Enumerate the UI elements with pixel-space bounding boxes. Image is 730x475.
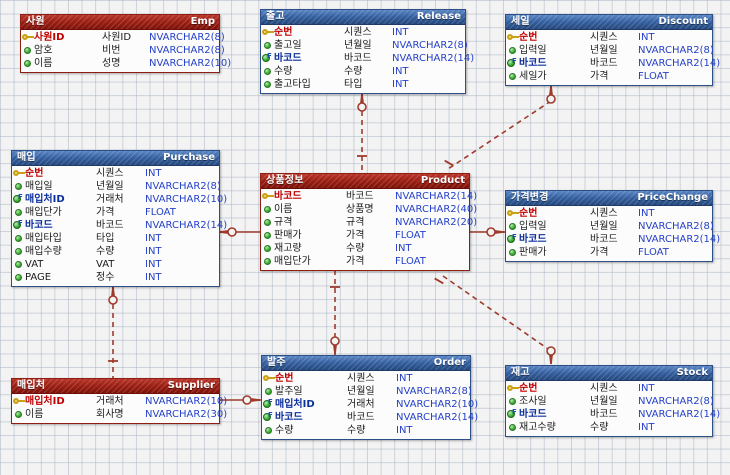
foreign-key-icon [13,221,24,230]
column-row[interactable]: 암호비번NVARCHAR2(8) [21,44,219,57]
column-domain: 비번 [102,44,149,57]
foreign-key-icon [263,413,274,422]
entity-table-release[interactable]: 출고Release순번시퀀스INT출고일년월일NVARCHAR2(8)바코드바코… [260,9,466,94]
column-type: NVARCHAR2(8) [638,220,714,233]
column-bullet-icon [15,183,22,190]
column-type: NVARCHAR2(8) [638,44,714,57]
rel-product-stock-crowfoot [547,347,555,364]
column-type: INT [638,207,655,220]
entity-name-en: Stock [677,366,708,380]
column-domain: 시퀀스 [347,372,396,385]
entity-columns-emp: 사원ID사원IDNVARCHAR2(8)암호비번NVARCHAR2(8)이름성명… [21,30,219,72]
column-domain: 가격 [590,70,638,83]
column-row[interactable]: 바코드바코드NVARCHAR2(14) [506,57,712,70]
column-type: INT [145,167,162,180]
column-domain: 바코드 [344,52,392,65]
column-type: NVARCHAR2(14) [392,52,474,65]
column-domain: 년월일 [344,39,392,52]
column-domain: 바코드 [96,219,145,232]
column-type: FLOAT [638,246,669,259]
entity-name-kr: 상품정보 [266,174,304,188]
column-domain: 수량 [344,65,392,78]
foreign-key-icon [12,219,25,232]
column-row[interactable]: 이름성명NVARCHAR2(10) [21,57,219,70]
column-row[interactable]: 출고일년월일NVARCHAR2(8) [261,39,465,52]
column-bullet-icon [264,219,271,226]
column-domain: 타입 [344,78,392,91]
column-row[interactable]: 바코드바코드NVARCHAR2(14) [261,52,465,65]
column-type: NVARCHAR2(20) [395,216,477,229]
column-name: 발주일 [275,385,347,398]
column-row[interactable]: 조사일년월일NVARCHAR2(8) [506,395,712,408]
column-row[interactable]: 이름회사명NVARCHAR2(30) [12,408,219,421]
column-domain: 년월일 [590,44,638,57]
entity-name-en: Supplier [168,379,215,393]
column-name: 바코드 [275,411,347,424]
column-type: NVARCHAR2(8) [145,180,221,193]
rel-purchase-supplier-crowfoot [109,287,117,304]
column-domain: 년월일 [96,180,145,193]
foreign-key-icon [12,193,25,206]
column-bullet-icon [506,44,519,57]
column-domain: 수량 [347,424,396,437]
column-name: 순번 [519,31,590,44]
column-bullet-icon [264,206,271,213]
column-bullet-icon [261,203,274,216]
column-name: 암호 [34,44,102,57]
foreign-key-icon [263,400,274,409]
foreign-key-icon [506,233,519,246]
column-type: NVARCHAR2(14) [638,233,720,246]
column-name: VAT [25,258,96,271]
foreign-key-icon [262,398,275,411]
column-name: 매입처ID [25,193,96,206]
foreign-key-icon [506,57,519,70]
column-type: INT [638,421,655,434]
column-domain: 성명 [102,57,149,70]
column-domain: VAT [96,258,145,271]
column-domain: 시퀀스 [590,382,638,395]
column-domain: 시퀀스 [590,207,638,220]
column-bullet-icon [12,232,25,245]
column-row[interactable]: 순번시퀀스INT [262,372,470,385]
primary-key-icon [21,31,34,44]
entity-header-pricechange[interactable]: 가격변경PriceChange [506,191,712,206]
entity-name-en: Order [434,356,466,370]
column-name: 이름 [34,57,102,70]
primary-key-icon [262,28,274,37]
column-row[interactable]: 매입수량수량INT [12,245,219,258]
column-row[interactable]: 바코드바코드NVARCHAR2(14) [262,411,470,424]
column-bullet-icon [509,398,516,405]
column-type: NVARCHAR2(8) [149,44,225,57]
column-bullet-icon [15,209,22,216]
column-domain: 거래처 [96,395,145,408]
column-row[interactable]: 사원ID사원IDNVARCHAR2(8) [21,31,219,44]
column-bullet-icon [262,424,275,437]
column-row[interactable]: 매입타입타입INT [12,232,219,245]
column-type: NVARCHAR2(14) [145,219,227,232]
column-domain: 바코드 [590,57,638,70]
column-type: NVARCHAR2(8) [392,39,468,52]
column-bullet-icon [506,220,519,233]
column-bullet-icon [261,78,274,91]
column-type: FLOAT [638,70,669,83]
column-type: INT [395,242,412,255]
column-type: NVARCHAR2(14) [395,190,477,203]
column-bullet-icon [261,39,274,52]
entity-name-en: Product [421,174,465,188]
column-domain: 가격 [346,255,395,268]
column-domain: 수량 [96,245,145,258]
entity-columns-discount: 순번시퀀스INT입력일년월일NVARCHAR2(8)바코드바코드NVARCHAR… [506,30,712,85]
primary-key-icon [506,382,519,395]
entity-name-en: PriceChange [637,191,708,205]
primary-key-icon [506,207,519,220]
rel-discount-product-crowfoot [547,86,555,103]
column-name: 입력일 [519,220,590,233]
column-type: INT [145,271,162,284]
column-domain: 상품명 [346,203,395,216]
column-row[interactable]: 순번시퀀스INT [261,26,465,39]
entity-name-en: Purchase [163,151,215,165]
foreign-key-icon [262,411,275,424]
foreign-key-icon [261,52,274,65]
column-bullet-icon [262,385,275,398]
column-name: 이름 [25,408,96,421]
column-domain: 시퀀스 [96,167,145,180]
column-row[interactable]: 출고타입타입INT [261,78,465,91]
column-bullet-icon [265,427,272,434]
column-type: NVARCHAR2(14) [396,411,478,424]
column-domain: 바코드 [590,408,638,421]
entity-table-product[interactable]: 상품정보Product바코드바코드NVARCHAR2(14)이름상품명NVARC… [260,173,470,271]
column-name: 출고타입 [274,78,344,91]
column-type: INT [638,31,655,44]
column-domain: 타입 [96,232,145,245]
entity-table-stock[interactable]: 재고Stock순번시퀀스INT조사일년월일NVARCHAR2(8)바코드바코드N… [505,365,713,437]
column-row[interactable]: 매입처ID거래처NVARCHAR2(10) [12,395,219,408]
entity-header-stock[interactable]: 재고Stock [506,366,712,381]
column-bullet-icon [506,246,519,259]
entity-columns-product: 바코드바코드NVARCHAR2(14)이름상품명NVARCHAR2(40)규격규… [261,189,469,270]
column-bullet-icon [264,245,271,252]
primary-key-icon [262,372,275,385]
column-name: 조사일 [519,395,590,408]
primary-key-icon [13,169,25,178]
column-name: 재고량 [274,242,346,255]
column-type: INT [145,232,162,245]
column-domain: 거래처 [96,193,145,206]
column-name: 바코드 [274,52,344,65]
column-type: NVARCHAR2(14) [638,57,720,70]
column-row[interactable]: 매입단가가격FLOAT [12,206,219,219]
column-name: 수량 [274,65,344,78]
column-row[interactable]: 판매가가격FLOAT [506,246,712,259]
column-row[interactable]: 매입처ID거래처NVARCHAR2(10) [262,398,470,411]
column-bullet-icon [509,424,516,431]
column-name: 바코드 [519,233,590,246]
column-row[interactable]: 바코드바코드NVARCHAR2(14) [261,190,469,203]
column-row[interactable]: 재고량수량INT [261,242,469,255]
column-name: 매입단가 [274,255,346,268]
entity-table-purchase[interactable]: 매입Purchase순번시퀀스INT매입일년월일NVARCHAR2(8)매입처I… [11,150,220,287]
column-type: NVARCHAR2(8) [149,31,225,44]
foreign-key-icon [13,195,24,204]
column-name: 출고일 [274,39,344,52]
column-bullet-icon [264,42,271,49]
column-name: 매입처ID [275,398,347,411]
column-type: INT [145,245,162,258]
column-bullet-icon [509,47,516,54]
column-row[interactable]: 판매가가격FLOAT [261,229,469,242]
column-bullet-icon [506,70,519,83]
column-domain: 년월일 [347,385,396,398]
primary-key-icon [261,190,274,203]
rel-discount-product-bar [445,161,454,166]
column-row[interactable]: 순번시퀀스INT [506,31,712,44]
column-bullet-icon [12,206,25,219]
column-type: NVARCHAR2(8) [396,385,472,398]
entity-table-order[interactable]: 발주Order순번시퀀스INT발주일년월일NVARCHAR2(8)매입처ID거래… [261,355,471,440]
column-bullet-icon [24,60,31,67]
rel-product-pricechange-crowfoot [487,228,504,236]
column-row[interactable]: 매입일년월일NVARCHAR2(8) [12,180,219,193]
entity-header-order[interactable]: 발주Order [262,356,470,371]
column-type: NVARCHAR2(10) [149,57,231,70]
column-domain: 정수 [96,271,145,284]
rel-discount-product-line [448,101,551,169]
primary-key-icon [22,33,34,42]
primary-key-icon [507,209,519,218]
column-bullet-icon [264,81,271,88]
column-row[interactable]: 순번시퀀스INT [506,382,712,395]
column-name: 순번 [519,207,590,220]
column-bullet-icon [261,216,274,229]
entity-header-emp[interactable]: 사원Emp [21,15,219,30]
column-bullet-icon [12,271,25,284]
entity-table-supplier[interactable]: 매입처Supplier매입처ID거래처NVARCHAR2(10)이름회사명NVA… [11,378,220,424]
primary-key-icon [262,192,274,201]
column-domain: 가격 [96,206,145,219]
column-row[interactable]: 발주일년월일NVARCHAR2(8) [262,385,470,398]
column-domain: 년월일 [590,220,638,233]
column-name: 순번 [274,26,344,39]
column-row[interactable]: 이름상품명NVARCHAR2(40) [261,203,469,216]
entity-name-kr: 매입 [17,151,36,165]
column-row[interactable]: 바코드바코드NVARCHAR2(14) [506,233,712,246]
column-name: 바코드 [519,408,590,421]
column-type: NVARCHAR2(40) [395,203,477,216]
column-domain: 회사명 [96,408,145,421]
entity-table-pricechange[interactable]: 가격변경PriceChange순번시퀀스INT입력일년월일NVARCHAR2(8… [505,190,713,262]
column-name: 순번 [25,167,96,180]
column-type: INT [145,258,162,271]
column-name: 세일가 [519,70,590,83]
column-type: INT [396,424,413,437]
primary-key-icon [12,395,25,408]
column-type: NVARCHAR2(30) [145,408,227,421]
column-type: FLOAT [395,229,426,242]
entity-columns-pricechange: 순번시퀀스INT입력일년월일NVARCHAR2(8)바코드바코드NVARCHAR… [506,206,712,261]
entity-table-emp[interactable]: 사원Emp사원ID사원IDNVARCHAR2(8)암호비번NVARCHAR2(8… [20,14,220,73]
column-name: 판매가 [274,229,346,242]
column-name: 매입타입 [25,232,96,245]
column-name: 사원ID [34,31,102,44]
column-bullet-icon [509,223,516,230]
column-bullet-icon [15,411,22,418]
entity-columns-release: 순번시퀀스INT출고일년월일NVARCHAR2(8)바코드바코드NVARCHAR… [261,25,465,93]
rel-product-stock-line [443,276,551,351]
column-type: FLOAT [145,206,176,219]
column-bullet-icon [265,388,272,395]
column-type: NVARCHAR2(14) [638,408,720,421]
column-type: NVARCHAR2(10) [145,193,227,206]
rel-product-stock-bar [435,278,444,283]
column-row[interactable]: 순번시퀀스INT [12,167,219,180]
column-bullet-icon [261,65,274,78]
entity-header-purchase[interactable]: 매입Purchase [12,151,219,166]
column-row[interactable]: 매입처ID거래처NVARCHAR2(10) [12,193,219,206]
entity-name-en: Emp [191,15,215,29]
entity-header-product[interactable]: 상품정보Product [261,174,469,189]
column-name: 이름 [274,203,346,216]
primary-key-icon [507,384,519,393]
column-domain: 바코드 [346,190,395,203]
entity-name-kr: 사원 [26,15,45,29]
primary-key-icon [261,26,274,39]
column-name: 재고수량 [519,421,590,434]
column-row[interactable]: VATVATINT [12,258,219,271]
column-domain: 시퀀스 [590,31,638,44]
column-type: NVARCHAR2(8) [638,395,714,408]
entity-name-kr: 발주 [267,356,286,370]
column-bullet-icon [509,249,516,256]
column-bullet-icon [15,261,22,268]
entity-name-en: Discount [659,15,709,29]
column-bullet-icon [264,68,271,75]
primary-key-icon [263,374,275,383]
rel-product-order-crowfoot [331,337,339,354]
entity-columns-purchase: 순번시퀀스INT매입일년월일NVARCHAR2(8)매입처ID거래처NVARCH… [12,166,219,286]
column-type: INT [638,382,655,395]
column-bullet-icon [15,274,22,281]
column-row[interactable]: 매입단가가격FLOAT [261,255,469,268]
primary-key-icon [507,33,519,42]
column-row[interactable]: 수량수량INT [261,65,465,78]
column-row[interactable]: 입력일년월일NVARCHAR2(8) [506,44,712,57]
column-row[interactable]: 바코드바코드NVARCHAR2(14) [12,219,219,232]
column-type: INT [396,372,413,385]
column-bullet-icon [12,408,25,421]
entity-table-discount[interactable]: 세일Discount순번시퀀스INT입력일년월일NVARCHAR2(8)바코드바… [505,14,713,86]
column-domain: 바코드 [347,411,396,424]
column-bullet-icon [506,395,519,408]
column-bullet-icon [506,421,519,434]
primary-key-icon [13,397,25,406]
column-name: 바코드 [519,57,590,70]
foreign-key-icon [506,408,519,421]
column-bullet-icon [509,73,516,80]
column-bullet-icon [12,245,25,258]
column-name: 입력일 [519,44,590,57]
entity-name-kr: 가격변경 [511,191,549,205]
foreign-key-icon [507,235,518,244]
entity-header-discount[interactable]: 세일Discount [506,15,712,30]
foreign-key-icon [507,410,518,419]
column-type: FLOAT [395,255,426,268]
foreign-key-icon [507,59,518,68]
column-type: INT [392,26,409,39]
column-domain: 거래처 [347,398,396,411]
column-bullet-icon [12,258,25,271]
entity-name-kr: 세일 [511,15,530,29]
column-name: 바코드 [274,190,346,203]
column-bullet-icon [261,229,274,242]
column-row[interactable]: PAGE정수INT [12,271,219,284]
column-row[interactable]: 재고수량수량INT [506,421,712,434]
column-name: 순번 [275,372,347,385]
column-name: 규격 [274,216,346,229]
column-type: NVARCHAR2(10) [396,398,478,411]
column-name: 매입처ID [25,395,96,408]
column-row[interactable]: 바코드바코드NVARCHAR2(14) [506,408,712,421]
entity-columns-stock: 순번시퀀스INT조사일년월일NVARCHAR2(8)바코드바코드NVARCHAR… [506,381,712,436]
column-row[interactable]: 규격규격NVARCHAR2(20) [261,216,469,229]
column-row[interactable]: 순번시퀀스INT [506,207,712,220]
column-row[interactable]: 수량수량INT [262,424,470,437]
column-bullet-icon [261,255,274,268]
column-bullet-icon [21,57,34,70]
column-type: NVARCHAR2(10) [145,395,227,408]
rel-supplier-order-crowfoot [243,396,260,404]
erd-canvas[interactable]: 사원Emp사원ID사원IDNVARCHAR2(8)암호비번NVARCHAR2(8… [0,0,730,475]
column-row[interactable]: 세일가가격FLOAT [506,70,712,83]
entity-header-release[interactable]: 출고Release [261,10,465,25]
entity-name-kr: 매입처 [17,379,45,393]
primary-key-icon [506,31,519,44]
column-bullet-icon [261,242,274,255]
column-bullet-icon [21,44,34,57]
column-bullet-icon [12,180,25,193]
entity-name-en: Release [417,10,461,24]
column-domain: 수량 [346,242,395,255]
entity-name-kr: 재고 [511,366,530,380]
column-bullet-icon [264,232,271,239]
column-domain: 년월일 [590,395,638,408]
column-row[interactable]: 입력일년월일NVARCHAR2(8) [506,220,712,233]
entity-columns-order: 순번시퀀스INT발주일년월일NVARCHAR2(8)매입처ID거래처NVARCH… [262,371,470,439]
entity-header-supplier[interactable]: 매입처Supplier [12,379,219,394]
column-type: INT [392,65,409,78]
foreign-key-icon [262,54,273,63]
column-name: 수량 [275,424,347,437]
column-name: 매입수량 [25,245,96,258]
entity-columns-supplier: 매입처ID거래처NVARCHAR2(10)이름회사명NVARCHAR2(30) [12,394,219,423]
rel-release-product-crowfoot [358,94,366,111]
column-domain: 가격 [590,246,638,259]
entity-name-kr: 출고 [266,10,285,24]
column-name: 바코드 [25,219,96,232]
column-type: INT [392,78,409,91]
column-domain: 수량 [590,421,638,434]
column-bullet-icon [15,248,22,255]
column-name: 매입단가 [25,206,96,219]
column-name: 순번 [519,382,590,395]
column-domain: 바코드 [590,233,638,246]
column-name: 판매가 [519,246,590,259]
column-domain: 시퀀스 [344,26,392,39]
